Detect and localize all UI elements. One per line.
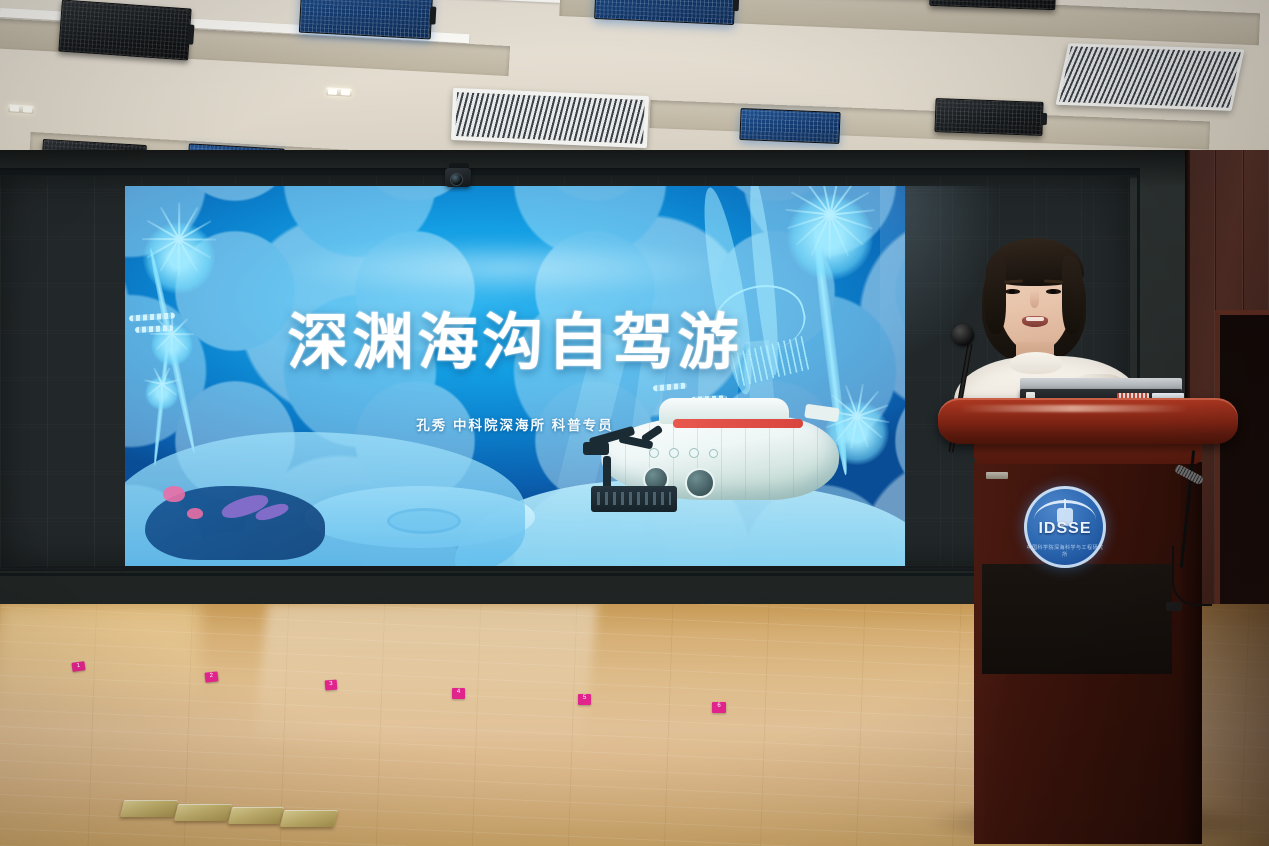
- slide-title: 深渊海沟自驾游: [125, 292, 905, 381]
- stage-light-8: [934, 98, 1043, 136]
- submersible-light-1: [649, 448, 659, 458]
- floor-socket-plate-4: [280, 810, 338, 827]
- anemone-3: [145, 376, 179, 410]
- deep-sea-submersible: [577, 386, 859, 518]
- floor-marker-1: 1: [71, 661, 85, 672]
- podium-base: [984, 674, 1170, 844]
- floor-marker-5: 5: [578, 694, 591, 705]
- presenter-eye-right: [1046, 289, 1061, 294]
- presenter-collar: [1010, 352, 1062, 374]
- camera-lens-icon: [450, 173, 463, 186]
- slide-subtitle: 孔秀 中科院深海所 科普专员: [125, 414, 905, 434]
- floor-marker-2: 2: [205, 671, 219, 682]
- floor-socket-plate-2: [174, 804, 232, 821]
- floor-marker-4: 4: [452, 688, 465, 699]
- coral-pink-1: [163, 486, 185, 502]
- manipulator-claw-1: [583, 442, 609, 455]
- stage-light-2: [299, 0, 433, 39]
- submersible-viewport-2: [685, 468, 715, 498]
- floor-socket-plate-1: [120, 800, 178, 817]
- floor-reflection-warm: [0, 604, 200, 714]
- presentation-slide: 深渊海沟自驾游 孔秀 中科院深海所 科普专员: [125, 186, 905, 566]
- submersible-light-2: [669, 448, 679, 458]
- floor-marker-3: 3: [325, 680, 338, 691]
- submersible-light-3: [689, 448, 699, 458]
- anemone-4: [787, 194, 873, 280]
- microphone-head-icon: [952, 324, 974, 346]
- presenter-nose: [1030, 290, 1039, 308]
- floor-reflection-screen: [252, 604, 598, 754]
- stage-light-1: [58, 0, 191, 60]
- podium-center-panel: [982, 564, 1172, 674]
- ceiling-vent: [451, 88, 649, 148]
- ceiling-recess-4: [649, 100, 1210, 149]
- coral-pink-2: [187, 508, 203, 519]
- podium: IDSSE 中国科学院深海科学与工程研究所: [938, 398, 1238, 846]
- ceiling-vent-right: [1056, 43, 1245, 111]
- presenter-mouth: [1022, 316, 1048, 327]
- podium-top-rail: [938, 398, 1238, 444]
- presenter-eye-left: [1005, 289, 1020, 294]
- podium-cable-connector: [1166, 602, 1182, 611]
- stage-light-3: [594, 0, 736, 25]
- ceiling-spotlight-2: [326, 87, 352, 96]
- anemone-1: [143, 222, 215, 294]
- led-panels-left-unlit: [0, 186, 125, 569]
- podium-nameplate: [986, 472, 1008, 479]
- floor-marker-6: 6: [712, 702, 726, 713]
- slide-glow-band: [275, 238, 735, 298]
- podium-cable: [1172, 546, 1212, 606]
- stage-light-7: [739, 108, 840, 144]
- emblem-acronym: IDSSE: [1038, 520, 1091, 538]
- submersible-light-4: [709, 449, 718, 458]
- idsse-emblem: IDSSE 中国科学院深海科学与工程研究所: [1024, 486, 1106, 568]
- emblem-chinese-name: 中国科学院深海科学与工程研究所: [1024, 544, 1106, 558]
- ceiling-spotlight-1: [8, 104, 34, 114]
- floor-socket-plate-3: [228, 807, 284, 824]
- ptz-camera: [443, 163, 473, 193]
- podium-side-panel: [1180, 462, 1202, 844]
- lecture-hall-scene: 深渊海沟自驾游 孔秀 中科院深海所 科普专员 1 2 3 4 5 6: [0, 0, 1269, 846]
- sample-tray: [591, 486, 677, 512]
- presenter-hair-left: [984, 256, 1006, 334]
